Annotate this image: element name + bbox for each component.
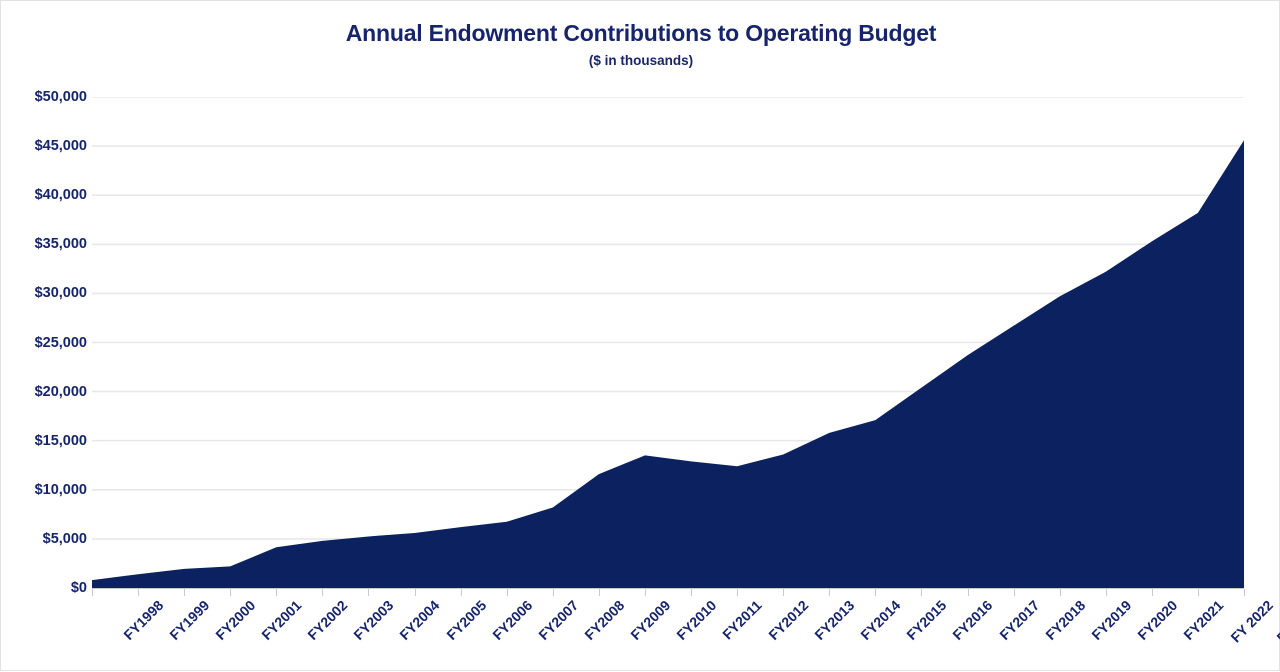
y-axis: $0$5,000$10,000$15,000$20,000$25,000$30,…: [1, 97, 87, 588]
x-axis-tick-mark: [737, 589, 738, 596]
x-axis-tick-label: FY2011: [719, 597, 764, 642]
x-axis-tick-mark: [184, 589, 185, 596]
x-axis-tick-mark: [1198, 589, 1199, 596]
x-axis-tick-label: FY2012: [765, 597, 811, 643]
x-axis: FY1998FY1999FY2000FY2001FY2002FY2003FY20…: [92, 597, 1280, 672]
y-axis-tick-label: $45,000: [5, 138, 87, 154]
area-series-annual-endowment-contributions: [92, 140, 1244, 588]
x-axis-tick-mark: [1244, 589, 1245, 596]
y-axis-tick-label: $0: [5, 580, 87, 596]
chart-figure: Annual Endowment Contributions to Operat…: [0, 0, 1280, 671]
x-axis-tick-label: FY2008: [581, 597, 627, 643]
x-axis-tick-mark: [507, 589, 508, 596]
x-axis-tick-mark: [829, 589, 830, 596]
x-axis-tick-mark: [921, 589, 922, 596]
x-axis-tick-mark: [368, 589, 369, 596]
x-axis-tick-label: FY2007: [535, 597, 581, 643]
x-axis-tick-label: FY2005: [443, 597, 489, 643]
x-axis-tick-mark: [968, 589, 969, 596]
plot-area: [92, 97, 1244, 588]
x-axis-tick-mark: [230, 589, 231, 596]
x-axis-tick-label: FY2006: [489, 597, 535, 643]
y-axis-tick-label: $10,000: [5, 482, 87, 498]
x-axis-tick-label: FY2003: [351, 597, 397, 643]
x-axis-tick-mark: [461, 589, 462, 596]
x-axis-tick-mark: [138, 589, 139, 596]
y-axis-tick-label: $5,000: [5, 531, 87, 547]
x-axis-tick-label: FY2021: [1180, 597, 1226, 643]
y-axis-tick-label: $25,000: [5, 335, 87, 351]
x-axis-tick-label: FY1999: [166, 597, 212, 643]
y-axis-tick-label: $50,000: [5, 89, 87, 105]
y-axis-tick-label: $15,000: [5, 433, 87, 449]
x-axis-tick-label: FY2020: [1134, 597, 1180, 643]
x-axis-tick-mark: [691, 589, 692, 596]
x-axis-tick-label: FY2016: [950, 597, 996, 643]
chart-subtitle: ($ in thousands): [1, 51, 1280, 71]
x-axis-tick-label: FY1998: [120, 597, 166, 643]
x-axis-tick-mark: [92, 589, 93, 596]
x-axis-tick-label: FY2017: [996, 597, 1042, 643]
area-chart-svg: [92, 97, 1244, 588]
x-axis-tick-mark: [875, 589, 876, 596]
chart-title-block: Annual Endowment Contributions to Operat…: [1, 19, 1280, 71]
x-axis-tick-label: FY2002: [305, 597, 351, 643]
x-axis-tick-label: FY2004: [397, 597, 443, 643]
x-axis-tick-label: FY2000: [213, 597, 259, 643]
x-axis-tick-mark: [1106, 589, 1107, 596]
y-axis-tick-label: $20,000: [5, 384, 87, 400]
x-axis-tick-mark: [553, 589, 554, 596]
y-axis-tick-label: $35,000: [5, 236, 87, 252]
x-axis-tick-mark: [415, 589, 416, 596]
x-axis-tick-mark: [645, 589, 646, 596]
x-axis-tick-mark: [599, 589, 600, 596]
x-axis-tick-marks: [92, 589, 1244, 596]
x-axis-tick-mark: [783, 589, 784, 596]
x-axis-tick-label: FY2009: [627, 597, 673, 643]
x-axis-tick-label: FY 2023: [1273, 597, 1280, 646]
x-axis-tick-label: FY2001: [259, 597, 305, 643]
y-axis-tick-label: $30,000: [5, 285, 87, 301]
x-axis-tick-label: FY2013: [812, 597, 858, 643]
page-title: Annual Endowment Contributions to Operat…: [1, 19, 1280, 47]
x-axis-tick-label: FY2018: [1042, 597, 1088, 643]
x-axis-tick-label: FY 2022: [1227, 597, 1276, 646]
y-axis-tick-label: $40,000: [5, 187, 87, 203]
x-axis-tick-mark: [1014, 589, 1015, 596]
x-axis-tick-mark: [276, 589, 277, 596]
x-axis-tick-label: FY2010: [673, 597, 719, 643]
x-axis-tick-label: FY2015: [904, 597, 950, 643]
x-axis-tick-mark: [1060, 589, 1061, 596]
x-axis-tick-label: FY2019: [1088, 597, 1134, 643]
x-axis-tick-mark: [1152, 589, 1153, 596]
x-axis-tick-mark: [322, 589, 323, 596]
x-axis-tick-label: FY2014: [858, 597, 904, 643]
